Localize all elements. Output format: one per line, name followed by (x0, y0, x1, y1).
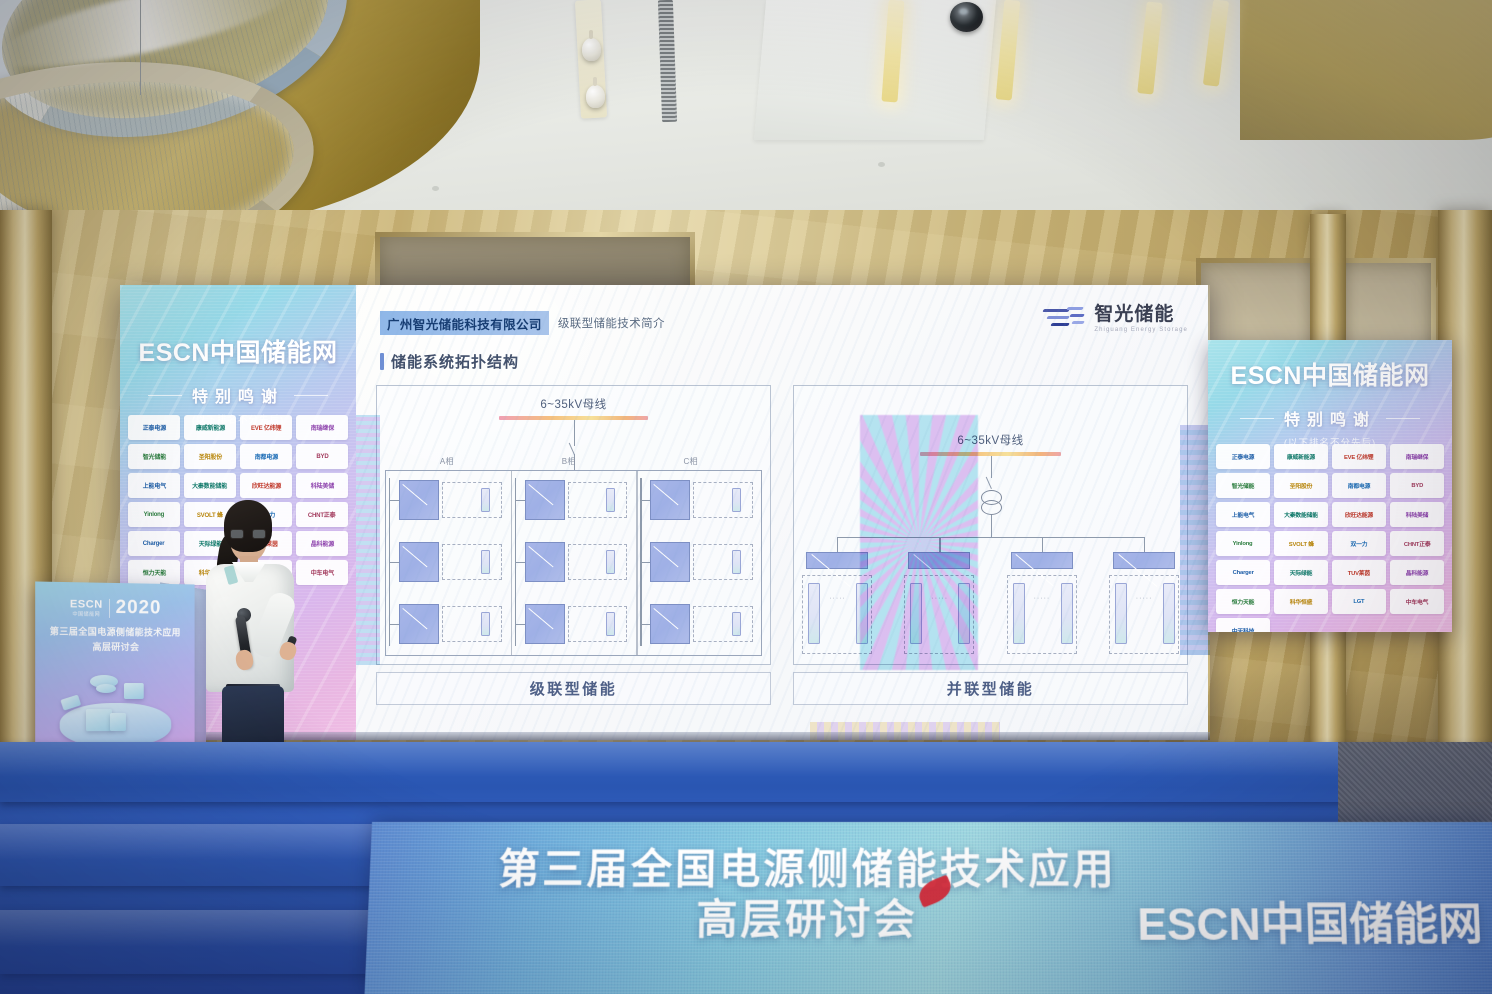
battery-enclosure (568, 606, 628, 642)
circuit-breaker-icon (568, 439, 582, 455)
sponsor-logo-text: 南都电源 (254, 452, 277, 460)
converter-module (525, 542, 565, 582)
sponsor-logo-text: EVE 亿纬锂 (1344, 452, 1373, 460)
stage-front-banner: 第三届全国电源侧储能技术应用 高层研讨会 ESCN中国储能网 (364, 822, 1492, 994)
iso-disc (96, 684, 116, 693)
sponsor-logo-text: 上能电气 (142, 481, 165, 489)
battery-rack (606, 612, 615, 636)
sponsor-logo-text: CHNT正泰 (308, 510, 336, 518)
phase-label-b: B相 (562, 456, 576, 467)
inverter-module (806, 552, 868, 569)
sponsor-logo-cell: Charger (128, 531, 180, 556)
battery-rack (1013, 583, 1025, 644)
battery-enclosure (568, 482, 628, 518)
sponsor-logo-cell: 双一力 (1332, 531, 1386, 556)
chandelier-suspension-wire (140, 0, 141, 95)
lens-right (252, 529, 266, 539)
sponsor-logo-text: 康威新能源 (195, 423, 224, 431)
sponsor-logo-text: Yinlong (144, 511, 164, 518)
sponsor-logo-cell: 正泰电源 (1216, 444, 1270, 469)
sponsor-logo-cell: 南瑞继保 (1390, 444, 1444, 469)
brand-name-text: 智光储能 (1094, 305, 1188, 324)
module-link (389, 624, 399, 625)
ceiling-slot-light (996, 0, 1021, 101)
sponsor-logo-cell: 中天科技 (1216, 618, 1270, 632)
sponsor-logo-cell: 康威新能源 (1274, 444, 1328, 469)
ceiling-downlight (878, 162, 885, 167)
module-link (389, 500, 399, 501)
sponsor-logo-text: Charger (143, 540, 165, 547)
converter-module (525, 480, 565, 520)
diagram-parallel: 6~35kV母线 ···················· 并联型储能 (793, 385, 1188, 705)
spotlight-icon (586, 85, 605, 108)
diagram-parallel-canvas: 6~35kV母线 ···················· (793, 385, 1188, 665)
stage-step (0, 742, 1492, 802)
module-link (515, 500, 525, 501)
module-link (515, 624, 525, 625)
sponsor-logo-cell: 正泰电源 (128, 415, 180, 440)
battery-rack (1163, 583, 1175, 644)
battery-rack (481, 612, 490, 636)
sponsor-logo-cell: Charger (1216, 560, 1270, 585)
battery-rack (1061, 583, 1073, 644)
sponsor-logo-text: Charger (1232, 569, 1253, 576)
inverter-feeder-line (1042, 537, 1043, 552)
battery-enclosure (693, 482, 753, 518)
podium-title-line2: 高层研讨会 (35, 640, 194, 655)
sponsor-logo-text: 欣旺达能源 (1345, 510, 1373, 518)
thanks-title-right: 特别鸣谢 (1208, 406, 1452, 430)
sponsor-logo-cell: 圣阳股份 (184, 444, 236, 469)
podium-escn-cn: 中国储能网 (70, 610, 103, 617)
sponsor-logo-text: 康威新能源 (1287, 452, 1315, 460)
sponsor-logo-cell: 上能电气 (1216, 502, 1270, 527)
converter-module (525, 604, 565, 644)
sponsor-logo-cell: SVOLT 蜂 (1274, 531, 1328, 556)
battery-rack (732, 488, 741, 512)
sponsor-logo-cell: 晶科能源 (1390, 560, 1444, 585)
iso-block (110, 713, 126, 731)
sponsor-logo-cell: 欣旺达能源 (1332, 502, 1386, 527)
sponsor-logo-text: 双一力 (1351, 539, 1368, 547)
escn-watermark: ESCN中国储能网 (1137, 888, 1484, 953)
banner-title-line1: 第三届全国电源侧储能技术应用 (455, 844, 1159, 894)
podium-header: ESCN 中国储能网 2020 第三届全国电源侧储能技术应用 高层研讨会 (35, 581, 194, 654)
sponsor-logo-cell: 科华恒盛 (1274, 589, 1328, 614)
sponsor-logo-cell: 智光储能 (1216, 473, 1270, 498)
sponsor-logo-cell: 圣阳股份 (1274, 473, 1328, 498)
sponsor-logo-text: BYD (316, 453, 328, 460)
battery-enclosure (568, 544, 628, 580)
sponsor-logo-cell: 恒力天能 (128, 560, 180, 585)
battery-enclosure (442, 544, 502, 580)
diagram-parallel-caption: 并联型储能 (793, 672, 1188, 705)
sponsor-logo-text: 恒力天能 (1232, 597, 1255, 605)
sponsor-logo-text: 晶科能源 (1406, 568, 1429, 576)
sponsor-logo-text: TUV莱茵 (1348, 568, 1370, 576)
converter-module (399, 604, 439, 644)
sponsor-logo-text: 科华恒盛 (1290, 597, 1313, 605)
sponsor-logo-cell: TUV莱茵 (1332, 560, 1386, 585)
sponsor-logo-cell: BYD (296, 444, 348, 469)
sponsor-logo-cell: 科陆美储 (1390, 502, 1444, 527)
podium-isometric-illustration (54, 669, 178, 748)
transformer-drop-line (991, 515, 992, 537)
battery-rack (856, 583, 868, 644)
inverter-feeder-line (1144, 537, 1145, 552)
sponsor-logo-text: 正泰电源 (1232, 452, 1255, 460)
topology-diagrams: 6~35kV母线 A相 B相 C相 级联型储能 6~35kV母线 (376, 385, 1188, 705)
battery-series-ellipsis: ····· (1034, 595, 1051, 602)
battery-rack (606, 488, 615, 512)
sponsor-logo-text: BYD (1411, 482, 1423, 489)
battery-rack (808, 583, 820, 644)
sponsor-logo-text: 恒力天能 (142, 568, 165, 576)
battery-enclosure (442, 606, 502, 642)
sponsor-logo-cell: 中车电气 (1390, 589, 1444, 614)
sponsor-logo-cell: 康威新能源 (184, 415, 236, 440)
ceiling (0, 0, 1492, 232)
sponsor-logo-text: 大秦数能储能 (1284, 510, 1318, 518)
sponsor-logo-text: 正泰电源 (142, 423, 165, 431)
battery-rack (481, 550, 490, 574)
sponsor-logo-cell: 科陆美储 (296, 473, 348, 498)
phase-label-c: C相 (684, 456, 698, 467)
sponsor-logo-cell: 南都电源 (1332, 473, 1386, 498)
sponsor-logo-cell: CHNT正泰 (1390, 531, 1444, 556)
thanks-title-left: 特别鸣谢 (120, 383, 356, 407)
zhiguang-mark-icon (1043, 305, 1087, 333)
sponsor-logo-cell: 南瑞继保 (296, 415, 348, 440)
sponsor-logo-text: 上能电气 (1232, 510, 1255, 518)
battery-rack (910, 583, 922, 644)
sponsor-logo-text: EVE 亿纬锂 (251, 423, 281, 431)
sponsor-logo-cell: EVE 亿纬锂 (1332, 444, 1386, 469)
slide-header: 广州智光储能科技有限公司 级联型储能技术简介 (380, 311, 665, 335)
sponsor-logo-text: 南都电源 (1348, 481, 1371, 489)
phase-label-a: A相 (440, 456, 454, 467)
battery-rack (1115, 583, 1127, 644)
banner-title-line2: 高层研讨会 (453, 894, 1160, 945)
slide-subject: 级联型储能技术简介 (558, 315, 665, 331)
sponsor-logo-text: 圣阳股份 (198, 452, 221, 460)
sponsor-logo-cell: 大秦数能储能 (184, 473, 236, 498)
sponsor-logo-cell: LGT (1332, 589, 1386, 614)
bus-label-parallel: 6~35kV母线 (794, 432, 1187, 448)
converter-module (650, 480, 690, 520)
escn-brand-right: ESCN中国储能网 (1208, 356, 1452, 392)
converter-module (650, 542, 690, 582)
panel-header-right: ESCN中国储能网 特别鸣谢 (以下排名不分先后) (1208, 356, 1452, 449)
sponsor-logo-text: 科陆美储 (310, 481, 333, 489)
module-link (515, 562, 525, 563)
sponsor-logo-text: 智光储能 (1232, 481, 1255, 489)
battery-rack (958, 583, 970, 644)
sponsor-logo-cell: Yinlong (1216, 531, 1270, 556)
battery-series-ellipsis: ····· (931, 595, 948, 602)
sponsor-logo-cell: 智光储能 (128, 444, 180, 469)
ceiling-downlight (432, 186, 439, 191)
sponsor-logo-text: SVOLT 蜂 (1288, 539, 1313, 547)
inverter-module (1011, 552, 1073, 569)
zhiguang-brand-logo: 智光储能 Zhiguang Energy Storage (1043, 305, 1188, 333)
sponsor-logo-cell: 南都电源 (240, 444, 292, 469)
inverter-module (1113, 552, 1175, 569)
sponsor-logo-text: 大秦数能储能 (193, 481, 228, 489)
phase-string-line (389, 478, 390, 646)
conference-stage-photo: ESCN中国储能网 特别鸣谢 (以下排名不分先后) 正泰电源康威新能源EVE 亿… (0, 0, 1492, 994)
phase-string-line (640, 478, 641, 646)
sponsor-logo-text: 中天科技 (1232, 626, 1255, 632)
escn-brand-left: ESCN中国储能网 (120, 333, 356, 369)
sponsor-logo-text: 中车电气 (310, 568, 333, 576)
sponsor-logo-text: 智光储能 (142, 452, 165, 460)
inverter-feeder-line (837, 537, 838, 552)
sponsor-logo-cell: BYD (1390, 473, 1444, 498)
company-name-tag: 广州智光储能科技有限公司 (380, 311, 549, 335)
sponsor-logo-text: 中车电气 (1406, 597, 1429, 605)
sponsor-logo-text: 天际绿能 (1290, 568, 1313, 576)
sponsor-logo-cell: 欣旺达能源 (240, 473, 292, 498)
battery-series-ellipsis: ····· (1136, 595, 1153, 602)
sponsor-logo-grid-right: 正泰电源康威新能源EVE 亿纬锂南瑞继保智光储能圣阳股份南都电源BYD上能电气大… (1216, 444, 1444, 632)
sponsor-logo-cell: 上能电气 (128, 473, 180, 498)
transformer-winding-icon (981, 500, 1002, 515)
security-camera-icon (950, 2, 983, 32)
glass-chandelier (0, 0, 420, 185)
battery-rack (732, 612, 741, 636)
battery-enclosure (693, 606, 753, 642)
module-link (640, 624, 650, 625)
diagram-cascaded-caption: 级联型储能 (376, 672, 771, 705)
sponsor-logo-text: CHNT正泰 (1404, 539, 1431, 547)
diagram-cascaded-canvas: 6~35kV母线 A相 B相 C相 (376, 385, 771, 665)
sponsor-panel-right: ESCN中国储能网 特别鸣谢 (以下排名不分先后) 正泰电源康威新能源EVE 亿… (1208, 340, 1452, 632)
sponsor-logo-text: 欣旺达能源 (251, 481, 280, 489)
sponsor-logo-text: 科陆美储 (1406, 510, 1429, 518)
battery-series-ellipsis: ····· (829, 595, 846, 602)
iso-block (124, 683, 144, 699)
sponsor-logo-cell: 恒力天能 (1216, 589, 1270, 614)
sponsor-logo-cell: 天际绿能 (1274, 560, 1328, 585)
ceiling-gold-soffit-right (1240, 0, 1492, 140)
eyeglasses-icon (230, 529, 266, 539)
circuit-breaker-icon (985, 473, 999, 489)
inverter-feeder-line (939, 537, 940, 552)
sponsor-logo-cell: Yinlong (128, 502, 180, 527)
sponsor-logo-cell: EVE 亿纬锂 (240, 415, 292, 440)
ceiling-slot-light (1203, 0, 1229, 87)
converter-module (650, 604, 690, 644)
sponsor-logo-text: LGT (1353, 598, 1364, 605)
sponsor-logo-text: Yinlong (1233, 540, 1253, 547)
battery-rack (606, 550, 615, 574)
battery-enclosure (693, 544, 753, 580)
diagram-cascaded: 6~35kV母线 A相 B相 C相 级联型储能 (376, 385, 771, 705)
module-link (640, 562, 650, 563)
sponsor-logo-text: 南瑞继保 (1406, 452, 1429, 460)
sponsor-logo-cell: 大秦数能储能 (1274, 502, 1328, 527)
ceiling-slot-light (1137, 1, 1163, 94)
battery-enclosure (442, 482, 502, 518)
spotlight-icon (582, 38, 601, 61)
section-accent-bar (380, 353, 384, 370)
podium-divider (109, 598, 110, 617)
distribution-busline (837, 537, 1144, 538)
module-link (640, 500, 650, 501)
sponsor-logo-text: 南瑞继保 (310, 423, 333, 431)
section-title-text: 储能系统拓扑结构 (391, 351, 519, 372)
podium-year: 2020 (116, 597, 162, 620)
converter-module (399, 480, 439, 520)
air-vent-grille (658, 0, 677, 122)
podium-escn-logo: ESCN (70, 598, 103, 611)
slide-section-title: 储能系统拓扑结构 (380, 351, 519, 372)
presentation-slide: 广州智光储能科技有限公司 级联型储能技术简介 智光储能 Zhiguang Ene… (356, 285, 1208, 740)
speaker-hair (224, 500, 272, 552)
battery-rack (732, 550, 741, 574)
module-link (389, 562, 399, 563)
converter-module (399, 542, 439, 582)
bus-label-cascaded: 6~35kV母线 (377, 396, 770, 412)
battery-rack (481, 488, 490, 512)
iso-block (86, 709, 112, 731)
sponsor-logo-text: 晶科能源 (310, 539, 333, 547)
phase-string-line (515, 478, 516, 646)
brand-subtitle-text: Zhiguang Energy Storage (1094, 327, 1188, 333)
inverter-module (908, 552, 970, 569)
sponsor-logo-text: 圣阳股份 (1290, 481, 1313, 489)
panel-header-left: ESCN中国储能网 特别鸣谢 (以下排名不分先后) (120, 333, 356, 426)
podium-title-line1: 第三届全国电源侧储能技术应用 (35, 625, 194, 640)
banner-title: 第三届全国电源侧储能技术应用 高层研讨会 (453, 844, 1160, 945)
lens-left (230, 529, 244, 539)
